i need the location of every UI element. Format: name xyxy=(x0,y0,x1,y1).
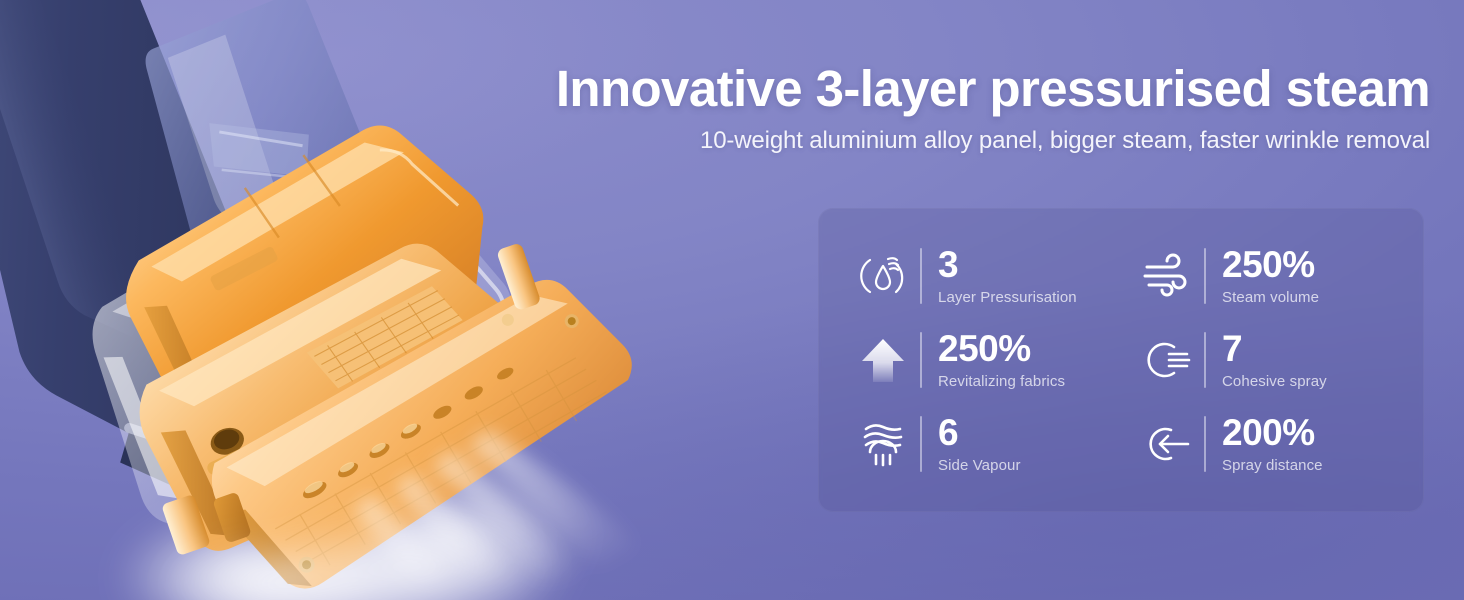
stat-item: 250% Steam volume xyxy=(1136,234,1402,318)
spray-distance-icon xyxy=(1136,413,1198,475)
page-subtitle: 10-weight aluminium alloy panel, bigger … xyxy=(430,127,1430,155)
stat-text: 200% Spray distance xyxy=(1222,414,1323,474)
stat-divider xyxy=(920,416,922,472)
stat-label: Steam volume xyxy=(1222,289,1319,306)
headline-block: Innovative 3-layer pressurised steam 10-… xyxy=(430,62,1430,155)
wind-icon xyxy=(1136,245,1198,307)
feature-stats-panel: 3 Layer Pressurisation 250% Steam volume xyxy=(818,208,1424,512)
stat-divider xyxy=(920,248,922,304)
stat-item: 7 Cohesive spray xyxy=(1136,318,1402,402)
stat-value: 7 xyxy=(1222,330,1327,368)
stat-item: 250% Revitalizing fabrics xyxy=(852,318,1118,402)
stat-text: 250% Steam volume xyxy=(1222,246,1319,306)
stat-divider xyxy=(1204,248,1206,304)
stat-label: Spray distance xyxy=(1222,457,1323,474)
stat-value: 200% xyxy=(1222,414,1323,452)
stat-text: 6 Side Vapour xyxy=(938,414,1021,474)
stat-divider xyxy=(920,332,922,388)
steam-pressure-icon xyxy=(852,245,914,307)
stat-divider xyxy=(1204,416,1206,472)
stat-divider xyxy=(1204,332,1206,388)
stat-value: 6 xyxy=(938,414,1021,452)
stat-text: 3 Layer Pressurisation xyxy=(938,246,1077,306)
stat-label: Side Vapour xyxy=(938,457,1021,474)
stat-value: 3 xyxy=(938,246,1077,284)
stat-label: Layer Pressurisation xyxy=(938,289,1077,306)
stat-item: 200% Spray distance xyxy=(1136,402,1402,486)
product-banner: Innovative 3-layer pressurised steam 10-… xyxy=(0,0,1464,600)
cohesive-spray-icon xyxy=(1136,329,1198,391)
page-title: Innovative 3-layer pressurised steam xyxy=(430,62,1430,115)
stat-value: 250% xyxy=(938,330,1065,368)
stat-label: Cohesive spray xyxy=(1222,373,1327,390)
stat-text: 250% Revitalizing fabrics xyxy=(938,330,1065,390)
up-arrow-icon xyxy=(852,329,914,391)
stat-text: 7 Cohesive spray xyxy=(1222,330,1327,390)
vapour-cloud-icon xyxy=(852,413,914,475)
stat-item: 6 Side Vapour xyxy=(852,402,1118,486)
stat-item: 3 Layer Pressurisation xyxy=(852,234,1118,318)
stat-label: Revitalizing fabrics xyxy=(938,373,1065,390)
stat-value: 250% xyxy=(1222,246,1319,284)
